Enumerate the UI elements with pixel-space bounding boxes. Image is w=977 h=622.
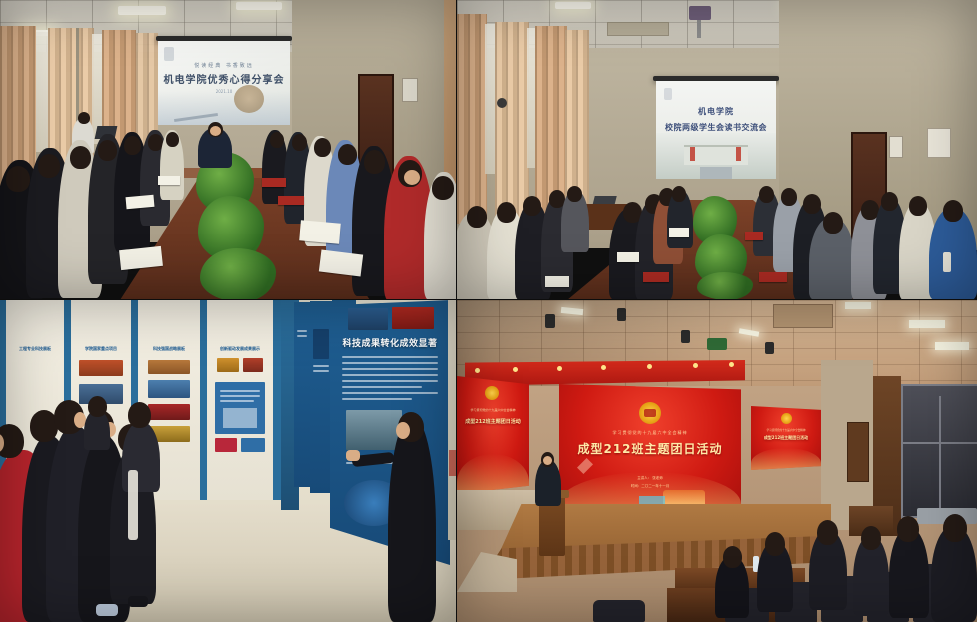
emblem-icon <box>781 413 792 424</box>
attendee-head <box>6 166 30 192</box>
attendee-head <box>823 212 843 234</box>
led-right-title: 成型212班主题团日活动 <box>751 435 821 441</box>
attendee-head <box>567 186 582 202</box>
exit-sign <box>707 338 727 350</box>
collage-seam-vertical <box>456 0 457 622</box>
ceiling-vent <box>773 304 833 328</box>
led-main-topline: 学习贯彻党的十九届六中全会精神 <box>559 430 741 436</box>
board-header: 创新驱动发展成果展示 <box>211 346 269 352</box>
led-dove-graphic <box>577 458 593 474</box>
board-photo <box>243 358 263 372</box>
ceiling-light <box>555 2 591 9</box>
board-photo-portrait <box>346 410 402 450</box>
table-plant <box>697 272 753 300</box>
handout <box>299 220 341 243</box>
docent-hand <box>346 450 360 461</box>
attendee-head <box>432 176 454 200</box>
wall-sign <box>927 128 951 158</box>
collage-panel-top-right[interactable]: 机电学院 校院两级学生会读书交流会 <box>457 0 977 300</box>
audience-head <box>817 520 838 545</box>
meeting-room-scene-2: 机电学院 校院两级学生会读书交流会 <box>457 0 977 300</box>
campus-flag <box>736 147 741 161</box>
audience-head <box>943 514 967 542</box>
attendee-head <box>672 186 686 202</box>
ceiling-light <box>909 320 945 328</box>
audience-head <box>897 516 919 542</box>
handout <box>545 276 569 287</box>
shoe <box>128 596 148 607</box>
table-plant <box>200 248 276 300</box>
photo-collage: 悦读经典 书香致远 机电学院优秀心得分享会 2021.10 <box>0 0 977 622</box>
speaker-face <box>543 456 552 465</box>
auditorium-scene: 学习贯彻党的十九届六中全会精神 成型212班主题团日活动 学习贯彻党的十九届六中… <box>457 300 977 622</box>
attendee-head <box>292 134 307 151</box>
red-booklet <box>262 178 286 187</box>
led-wave-graphic <box>639 496 665 504</box>
track-spotlight <box>617 308 626 321</box>
red-booklet <box>278 196 304 205</box>
attendee-head <box>523 196 541 216</box>
wall-switch-panel <box>889 136 903 158</box>
collage-panel-bottom-right[interactable]: 学习贯彻党的十九届六中全会精神 成型212班主题团日活动 学习贯彻党的十九届六中… <box>457 300 977 622</box>
board-header: 科技强国战略展板 <box>142 346 197 352</box>
presenter-face <box>210 126 221 136</box>
collage-panel-top-left[interactable]: 悦读经典 书香致远 机电学院优秀心得分享会 2021.10 <box>0 0 457 300</box>
attendee-head <box>364 150 385 174</box>
collage-panel-bottom-left[interactable]: 工程专业科技展板 学院国家重点项目 科技强国战略展板 创新驱动发展成果展示 <box>0 300 457 622</box>
attendee-head <box>781 188 797 206</box>
meeting-room-scene-1: 悦读经典 书香致远 机电学院优秀心得分享会 2021.10 <box>0 0 457 300</box>
handout <box>617 252 639 262</box>
screen-subtitle: 悦读经典 书香致远 <box>158 63 290 70</box>
audience-head <box>861 526 881 550</box>
red-booklet <box>745 232 763 240</box>
attendee-head <box>467 206 487 228</box>
led-screen-right: 学习贯彻党的十九届六中全会精神 成型212班主题团日活动 <box>751 406 821 470</box>
attendee-head <box>270 132 284 148</box>
ceiling-light <box>118 6 166 15</box>
projector-mount <box>697 20 701 38</box>
track-spotlight <box>681 330 690 343</box>
campus-plaza <box>700 167 732 179</box>
board-photo <box>79 360 123 376</box>
screen-line-1: 机电学院 <box>656 107 776 118</box>
audience-head <box>765 532 785 556</box>
panel-divider <box>273 300 281 500</box>
window-mullion <box>939 396 941 514</box>
ceiling-vent <box>607 22 669 36</box>
docent <box>388 418 436 622</box>
attendee-head <box>497 202 516 223</box>
projection-screen: 悦读经典 书香致远 机电学院优秀心得分享会 2021.10 <box>158 41 290 125</box>
attendee-head <box>166 132 179 147</box>
projection-screen: 机电学院 校院两级学生会读书交流会 <box>656 81 776 179</box>
led-main-title: 成型212班主题团日活动 <box>559 440 741 457</box>
ceiling-projector <box>689 6 711 20</box>
board-photo <box>148 404 190 420</box>
wall-panel-box <box>402 78 418 102</box>
led-left-title: 成型212班主题团日活动 <box>457 418 529 425</box>
exhibit-board-blue <box>294 302 310 487</box>
docent-face <box>396 422 410 439</box>
attendee-head <box>759 186 774 203</box>
led-right-topline: 学习贯彻党的十九届六中全会精神 <box>751 428 821 432</box>
wall-camera <box>497 98 507 108</box>
attendee-head <box>338 144 357 165</box>
emblem-icon <box>639 402 661 424</box>
led-left-topline: 学习贯彻党的十九届六中全会精神 <box>457 408 529 412</box>
board-photo-ceremony <box>392 307 434 329</box>
track-spotlight <box>765 342 774 354</box>
screen-title: 机电学院优秀心得分享会 <box>158 74 290 88</box>
board-photo <box>241 438 265 452</box>
panel-divider <box>200 300 207 500</box>
shoe <box>96 604 118 616</box>
window-mullion <box>903 442 977 444</box>
red-booklet <box>643 272 669 282</box>
board-blue-inset <box>215 382 265 434</box>
audience-seat <box>593 600 645 622</box>
board-header: 学院国家重点项目 <box>75 346 128 352</box>
screen-seal-mark <box>664 88 672 100</box>
attendee-face <box>404 170 420 185</box>
led-skyline-graphic <box>663 490 705 506</box>
attendee-head <box>124 136 141 155</box>
board-photo <box>217 358 239 372</box>
side-door <box>847 422 869 482</box>
handout <box>669 228 689 237</box>
attendee-head <box>70 146 91 169</box>
board-photo <box>215 438 237 452</box>
curtain <box>495 22 529 222</box>
notebook <box>158 176 180 185</box>
campus-flag <box>690 147 695 161</box>
led-screen-left: 学习贯彻党的十九届六中全会精神 成型212班主题团日活动 <box>457 376 529 494</box>
led-screen-main: 学习贯彻党的十九届六中全会精神 成型212班主题团日活动 主讲人： 张老师 时间… <box>559 384 741 518</box>
board-header: 工程专业科技展板 <box>9 346 60 352</box>
board-photo <box>148 360 190 374</box>
board-photo <box>148 380 190 398</box>
attendee-head <box>98 140 117 161</box>
screen-art-lantern <box>234 85 264 113</box>
board-photo-group <box>348 308 388 330</box>
attendee-head <box>803 194 821 214</box>
red-booklet <box>759 272 787 282</box>
notebook <box>126 195 155 209</box>
attendee-head <box>78 112 90 124</box>
attendee-head <box>314 138 331 157</box>
attendee-head <box>943 200 963 222</box>
ceiling-light <box>935 342 969 350</box>
emblem-icon <box>485 386 499 400</box>
ceiling-light <box>845 302 871 309</box>
track-spotlight <box>545 314 555 328</box>
collage-seam-horizontal <box>0 299 977 300</box>
exhibit-board: 创新驱动发展成果展示 <box>207 300 273 500</box>
curtain <box>457 14 487 224</box>
curtain <box>565 30 589 210</box>
attendee-head <box>38 154 60 178</box>
exhibition-hall-scene: 工程专业科技展板 学院国家重点项目 科技强国战略展板 创新驱动发展成果展示 <box>0 300 457 622</box>
student-head <box>128 402 151 428</box>
attendee-head <box>909 196 927 216</box>
exhibit-board-blue <box>310 301 332 493</box>
ceiling-light <box>236 2 282 10</box>
water-bottle <box>943 252 951 272</box>
track-pant-stripe <box>128 470 138 540</box>
featured-board-headline: 科技成果转化成效显著 <box>336 336 444 349</box>
board-photo <box>313 329 329 359</box>
curtain <box>535 26 567 218</box>
audience-head <box>723 546 742 568</box>
student-head <box>88 396 107 417</box>
screen-seal-mark <box>164 47 174 61</box>
attendee-head <box>881 192 898 211</box>
